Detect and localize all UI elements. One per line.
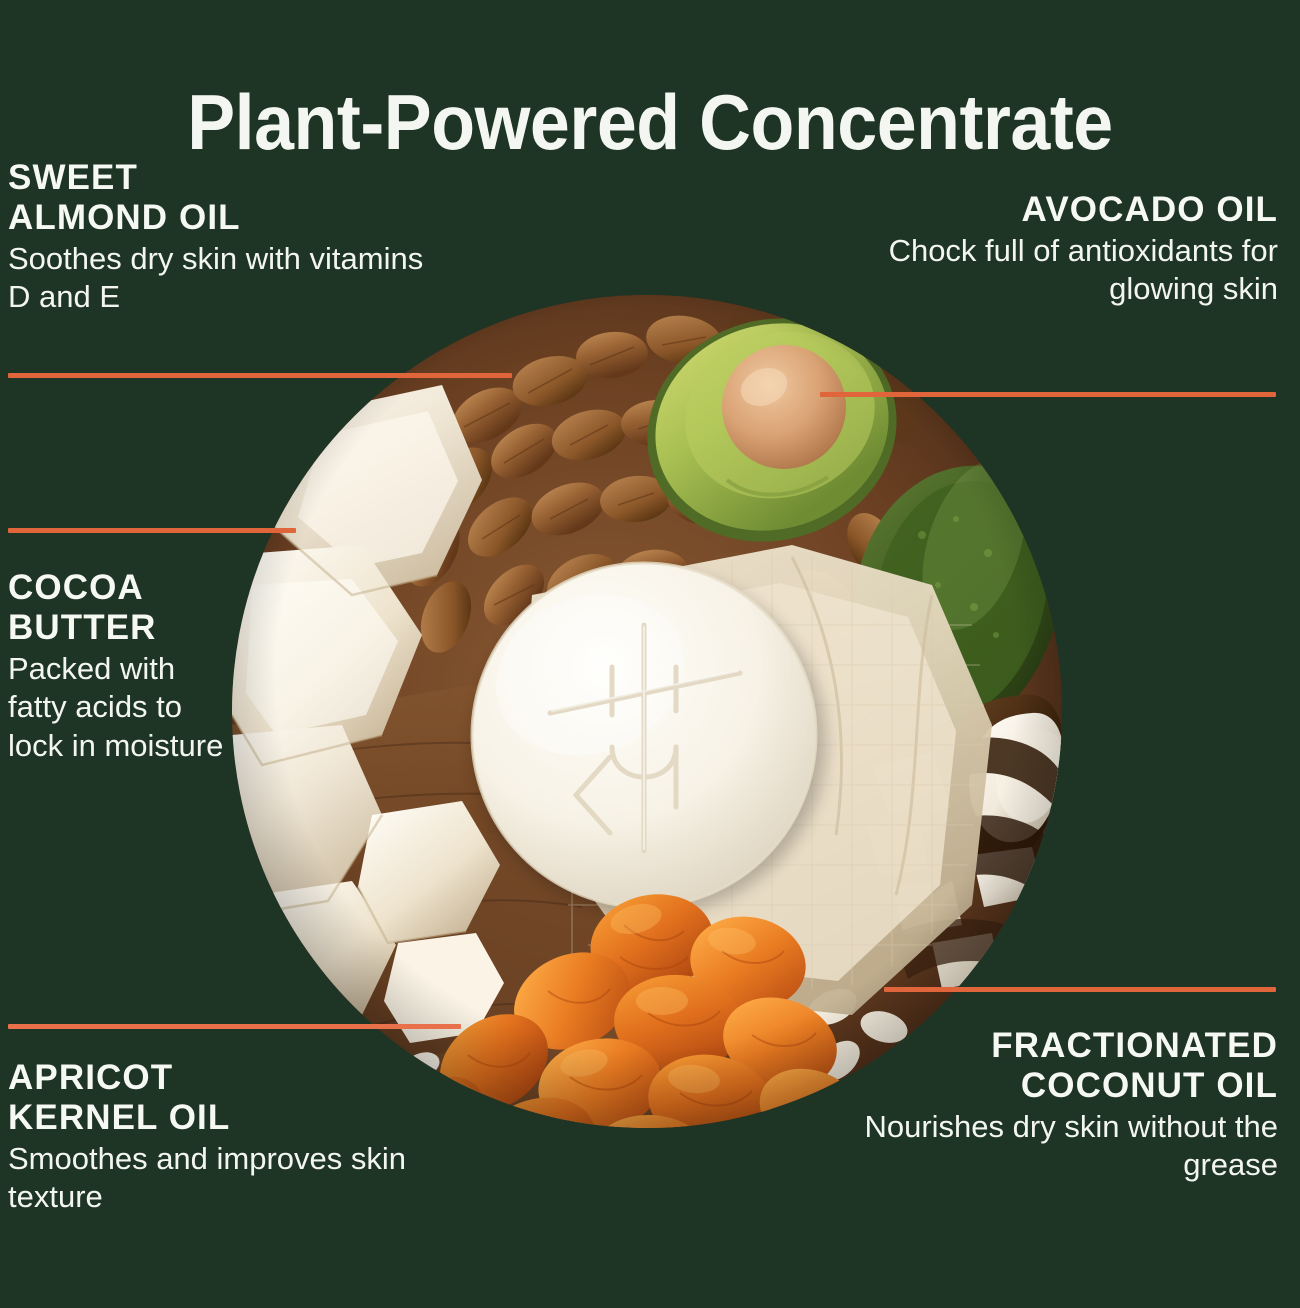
callout-label-cocoa-butter: COCOA BUTTER	[8, 568, 238, 648]
page-title: Plant-Powered Concentrate	[52, 80, 1248, 164]
callout-desc-avocado-oil: Chock full of antioxidants for glowing s…	[848, 232, 1278, 309]
callout-sweet-almond-oil: SWEET ALMOND OIL Soothes dry skin with v…	[8, 158, 428, 317]
callout-label-line1: APRICOT	[8, 1058, 173, 1097]
callout-avocado-oil: AVOCADO OIL Chock full of antioxidants f…	[848, 190, 1278, 309]
callout-fractionated-coconut-oil: FRACTIONATED COCONUT OIL Nourishes dry s…	[828, 1026, 1278, 1185]
connector-line-cocoa-butter	[8, 528, 296, 533]
callout-label-line2: BUTTER	[8, 608, 157, 647]
callout-label-apricot-kernel-oil: APRICOT KERNEL OIL	[8, 1058, 438, 1138]
callout-desc-fractionated-coconut-oil: Nourishes dry skin without the grease	[828, 1108, 1278, 1185]
callout-label-line1: AVOCADO OIL	[1022, 190, 1278, 229]
callout-label-line1: SWEET	[8, 158, 138, 197]
callout-desc-apricot-kernel-oil: Smoothes and improves skin texture	[8, 1140, 438, 1217]
callout-label-line2: COCONUT OIL	[1021, 1066, 1278, 1105]
connector-line-avocado-oil	[820, 392, 1276, 397]
callout-apricot-kernel-oil: APRICOT KERNEL OIL Smoothes and improves…	[8, 1058, 438, 1217]
connector-line-fractionated-coconut-oil	[884, 987, 1276, 992]
callout-label-line1: FRACTIONATED	[991, 1026, 1278, 1065]
connector-line-apricot-kernel-oil	[8, 1024, 461, 1029]
callout-desc-cocoa-butter: Packed with fatty acids to lock in moist…	[8, 650, 238, 765]
callout-label-fractionated-coconut-oil: FRACTIONATED COCONUT OIL	[828, 1026, 1278, 1106]
infographic-canvas: Plant-Powered Concentrate	[0, 0, 1300, 1308]
callout-label-line2: KERNEL OIL	[8, 1098, 230, 1137]
connector-line-sweet-almond-oil	[8, 373, 512, 378]
ingredients-photo-art	[232, 295, 1062, 1128]
callout-label-sweet-almond-oil: SWEET ALMOND OIL	[8, 158, 428, 238]
callout-label-avocado-oil: AVOCADO OIL	[848, 190, 1278, 230]
callout-label-line1: COCOA	[8, 568, 144, 607]
callout-label-line2: ALMOND OIL	[8, 198, 241, 237]
callout-desc-sweet-almond-oil: Soothes dry skin with vitamins D and E	[8, 240, 428, 317]
callout-cocoa-butter: COCOA BUTTER Packed with fatty acids to …	[8, 568, 238, 765]
ingredients-photo	[232, 295, 1062, 1128]
